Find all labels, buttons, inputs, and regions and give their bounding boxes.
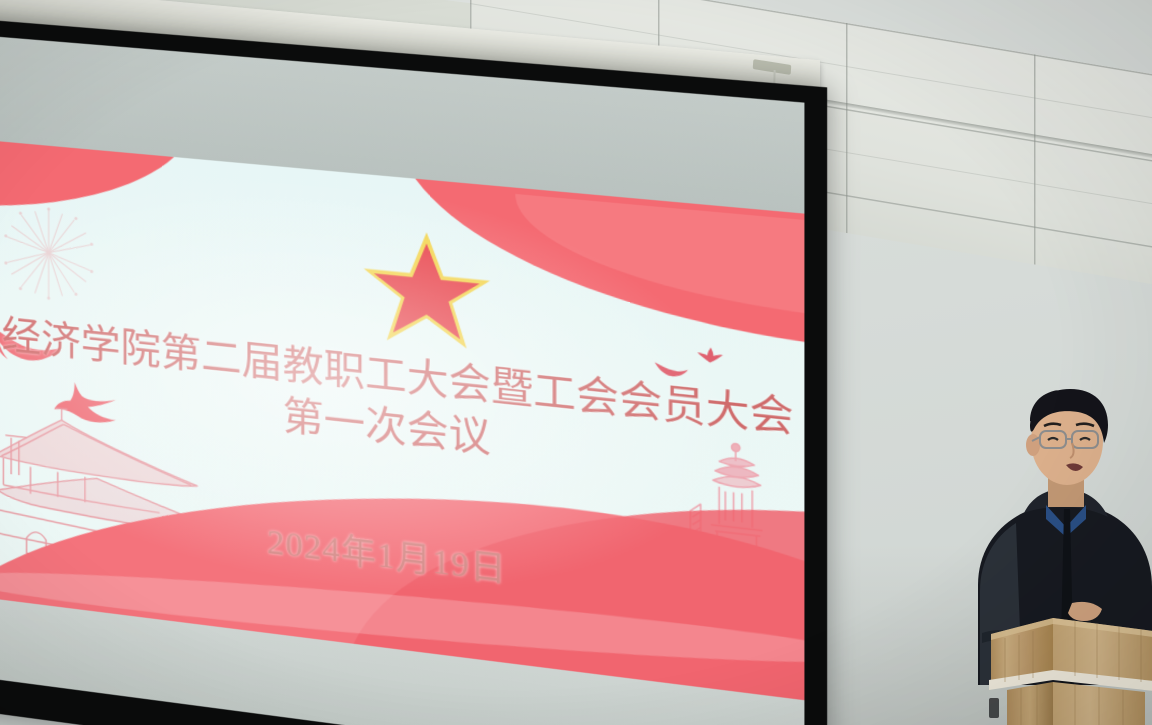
wooden-lectern — [985, 612, 1152, 725]
firework-burst-icon — [0, 200, 97, 306]
red-star-decoration — [362, 224, 491, 357]
red-five-pointed-star-icon — [362, 224, 491, 357]
projection-screen-frame: 经济学院第二届教职工大会暨工会会员大会 第一次会议 2024年1月19日 — [0, 16, 827, 725]
dove-icon — [694, 341, 728, 376]
photo-scene: 经济学院第二届教职工大会暨工会会员大会 第一次会议 2024年1月19日 — [0, 0, 1152, 725]
projection-screen-surface: 经济学院第二届教职工大会暨工会会员大会 第一次会议 2024年1月19日 — [0, 36, 804, 725]
